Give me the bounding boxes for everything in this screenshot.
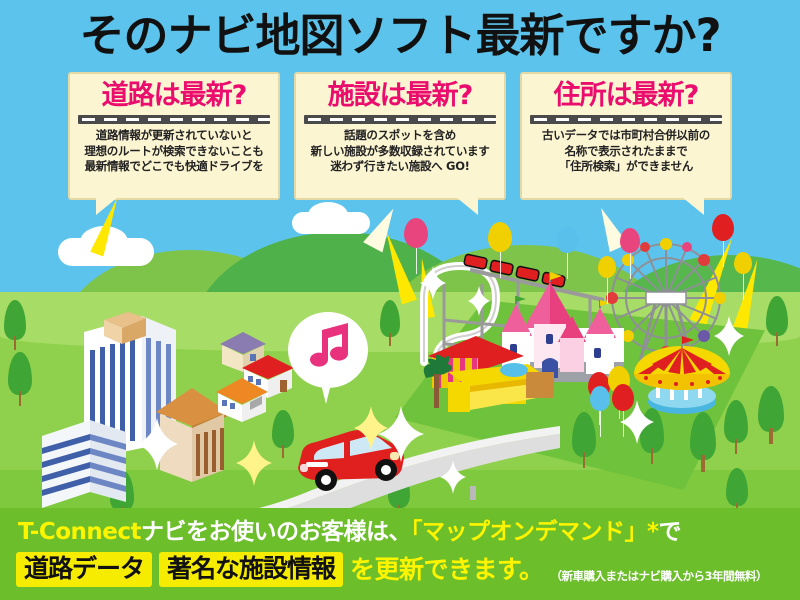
balloon-icon [598, 256, 616, 278]
tree-icon [690, 412, 716, 472]
bubble-line: 「住所検索」ができません [528, 159, 724, 175]
service-name: 「マップオンデマンド」* [411, 519, 659, 545]
banner-headline: T-Connectナビをお使いのお客様は、「マップオンデマンド」*で [18, 517, 681, 547]
tag-road-data: 道路データ [16, 552, 152, 587]
balloon-icon [590, 386, 610, 411]
pavilion-icon [418, 330, 558, 420]
bubble-line: 迷わず行きたい施設へ GO! [302, 159, 498, 175]
bottom-banner: T-Connectナビをお使いのお客様は、「マップオンデマンド」*で 道路データ… [0, 508, 800, 600]
feature-bubble-road: 道路は最新? 道路情報が更新されていないと 理想のルートが検索できないことも 最… [68, 72, 280, 200]
sparkle-icon [468, 286, 490, 316]
tree-icon [380, 300, 400, 346]
sparkle-icon [236, 440, 272, 486]
banner-text-a: ナビをお使いのお客様は、 [141, 519, 411, 545]
sparkle-icon [620, 400, 654, 444]
sparkle-icon [378, 406, 424, 462]
bubble-line: 道路情報が更新されていないと [76, 128, 272, 144]
tree-icon [724, 400, 748, 454]
bubble-line: 最新情報でどこでも快適ドライブを [76, 159, 272, 175]
bubble-line: 名称で表示されたままで [528, 144, 724, 160]
feature-bubble-facility: 施設は最新? 話題のスポットを含め 新しい施設が多数収録されています 迷わず行き… [294, 72, 506, 200]
sparkle-icon [440, 460, 466, 494]
balloon-icon [556, 226, 578, 253]
road-divider-icon [530, 115, 722, 124]
banner-subline: 道路データ 著名な施設情報 を更新できます。 （新車購入またはナビ購入から3年間… [16, 552, 767, 587]
bubble-line: 新しい施設が多数収録されています [302, 144, 498, 160]
feature-bubbles: 道路は最新? 道路情報が更新されていないと 理想のルートが検索できないことも 最… [0, 72, 800, 212]
bubble-title-facility: 施設は最新? [302, 79, 498, 113]
page-title: そのナビ地図ソフト最新ですか? [0, 8, 800, 64]
balloon-icon [620, 228, 640, 253]
tree-icon [758, 386, 784, 444]
bubble-line: 理想のルートが検索できないことも [76, 144, 272, 160]
tree-icon [8, 352, 32, 406]
banner-text-b: で [659, 519, 682, 545]
tag-facility-info: 著名な施設情報 [159, 552, 343, 587]
banner-footnote: （新車購入またはナビ購入から3年間無料） [551, 568, 768, 584]
bubble-title-road: 道路は最新? [76, 79, 272, 113]
house-icon [212, 374, 274, 426]
balloon-icon [488, 222, 512, 252]
tree-icon [4, 300, 26, 350]
sparkle-icon [714, 316, 744, 356]
brand-name: T-Connect [18, 519, 141, 545]
bubble-line: 話題のスポットを含め [302, 128, 498, 144]
sparkle-icon [136, 418, 178, 470]
balloon-icon [734, 252, 752, 274]
bubble-title-address: 住所は最新? [528, 79, 724, 113]
feature-bubble-address: 住所は最新? 古いデータでは市町村合併以前の 名称で表示されたままで 「住所検索… [520, 72, 732, 200]
tree-icon [766, 296, 788, 346]
road-divider-icon [304, 115, 496, 124]
tree-icon [572, 412, 596, 468]
balloon-icon [712, 214, 734, 241]
banner-update-text: を更新できます。 [350, 555, 544, 585]
advertisement-poster: そのナビ地図ソフト最新ですか? 道路は最新? 道路情報が更新されていないと 理想… [0, 0, 800, 600]
balloon-icon [404, 218, 428, 248]
bubble-line: 古いデータでは市町村合併以前の [528, 128, 724, 144]
road-divider-icon [78, 115, 270, 124]
music-note-bubble-icon [286, 308, 370, 408]
sparkle-icon [420, 266, 446, 300]
